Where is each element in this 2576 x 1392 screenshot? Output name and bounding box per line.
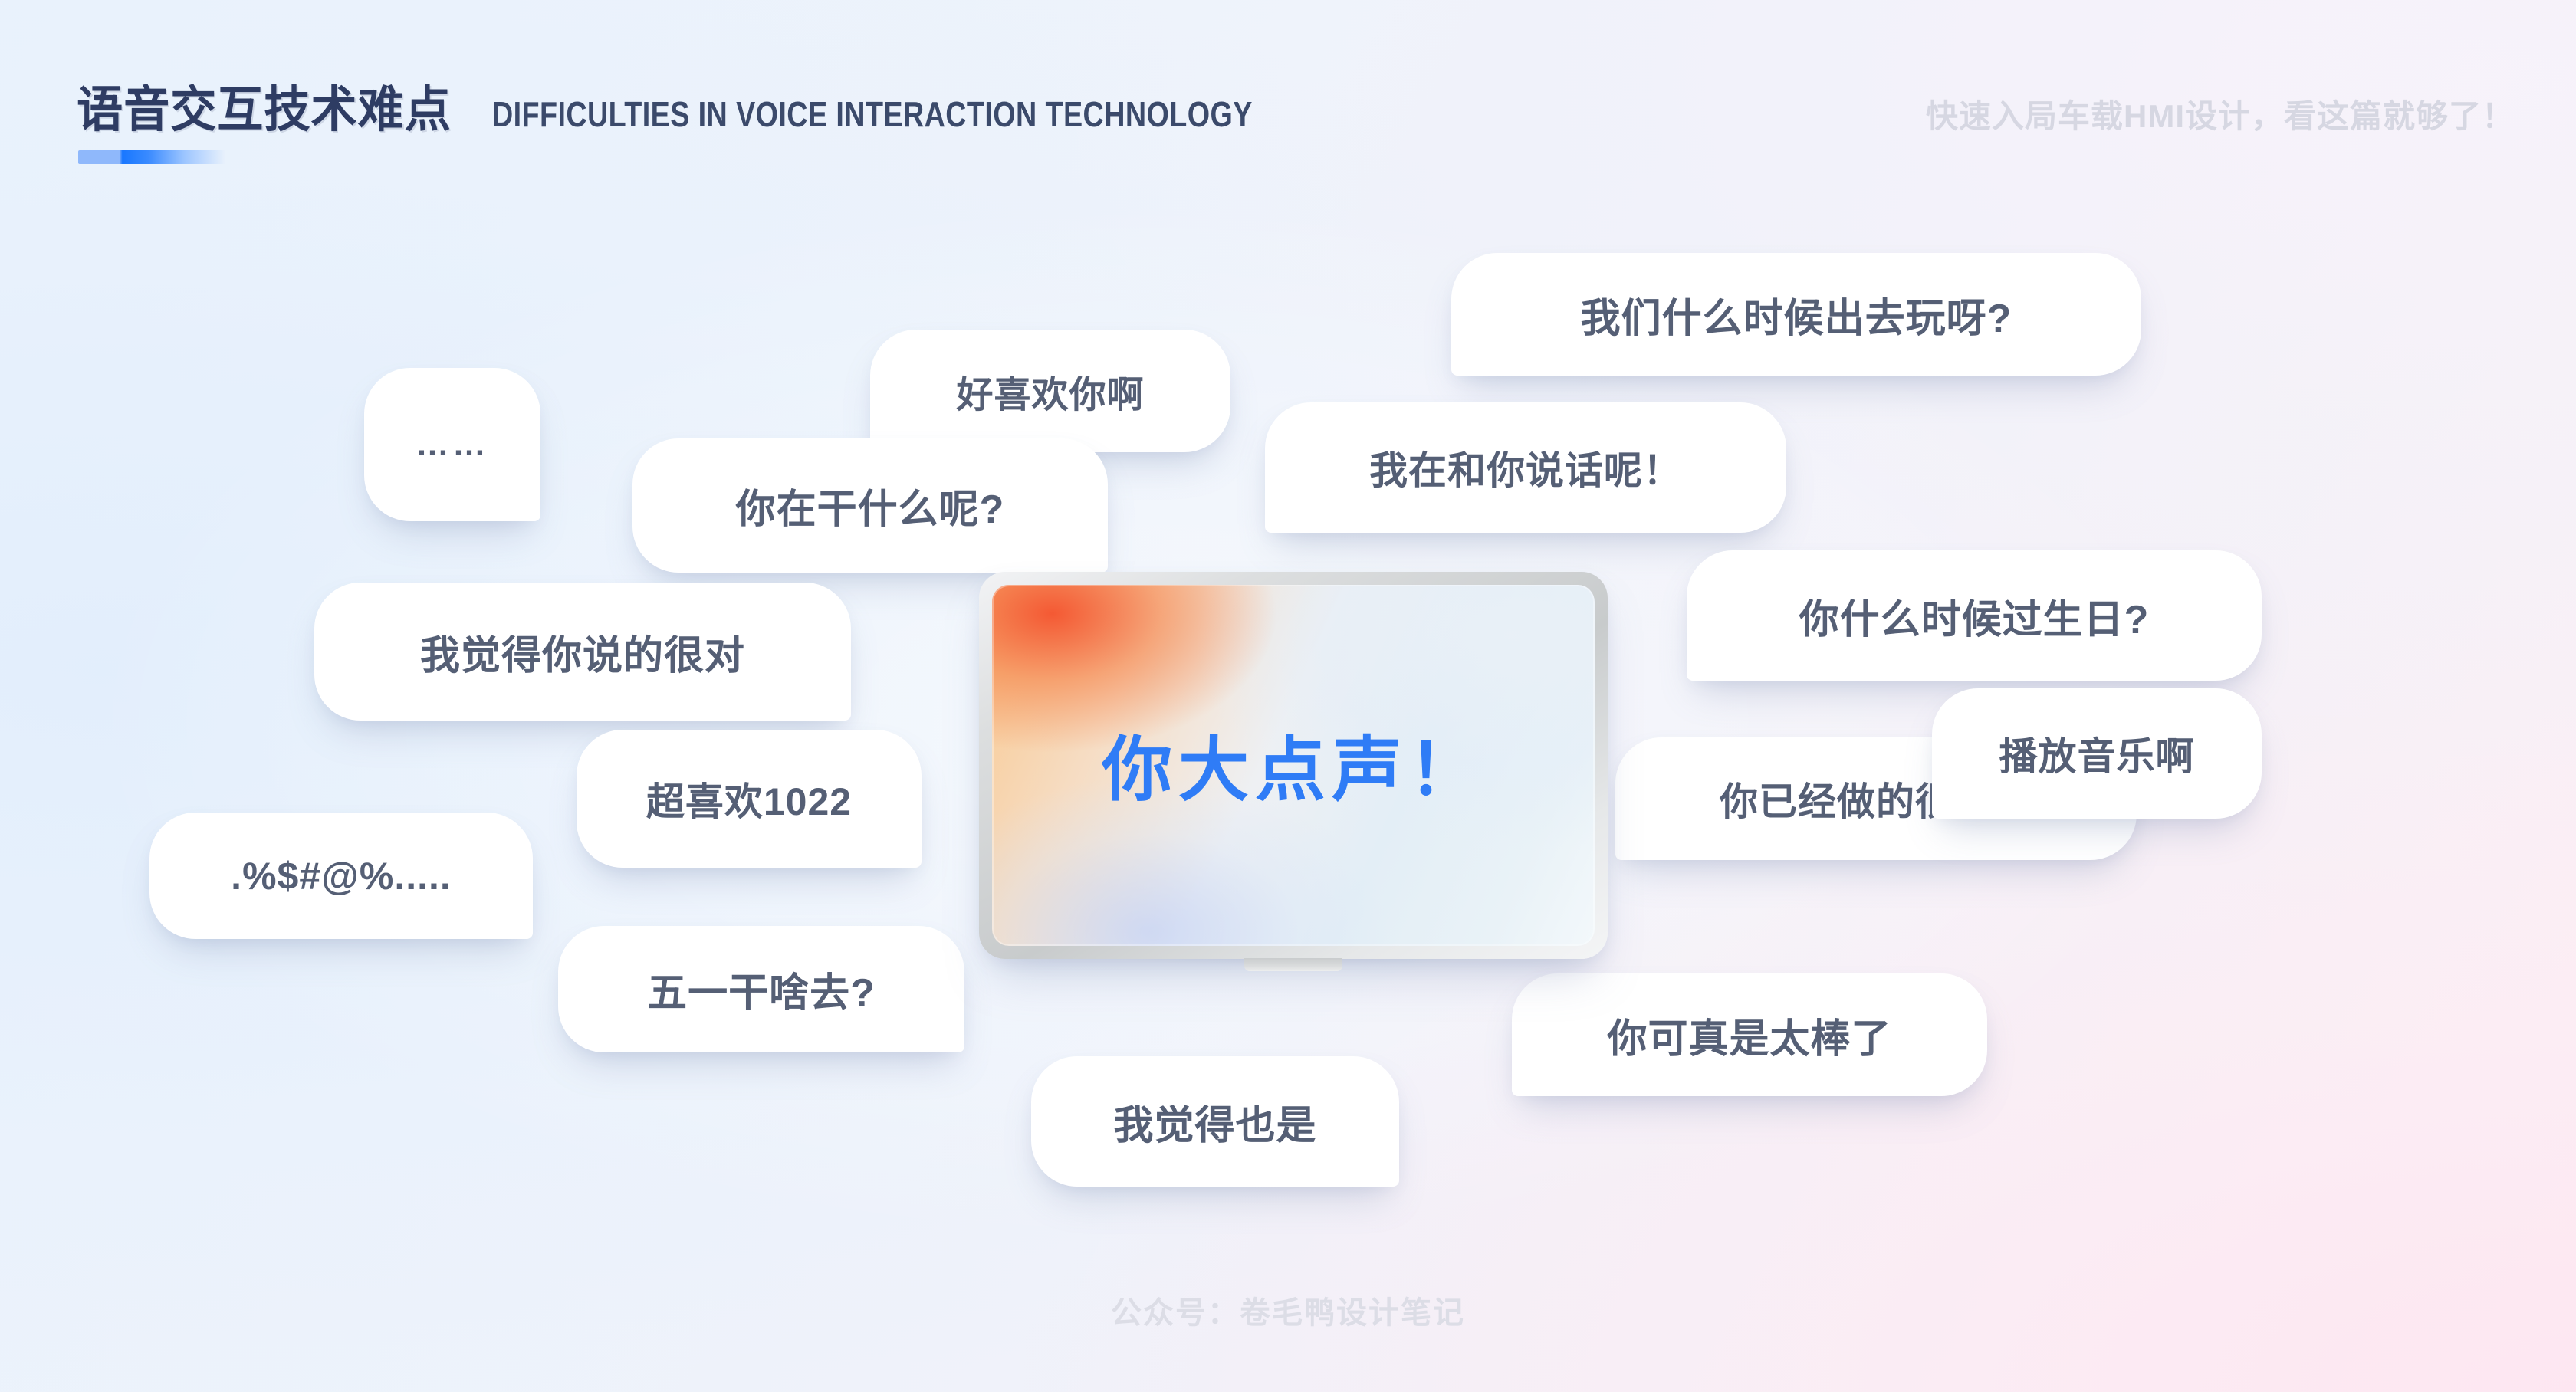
page-title-cn: 语音交互技术难点 [77,71,452,141]
speech-bubble: 好喜欢你啊 [870,330,1230,452]
speech-bubble: 我们什么时候出去玩呀? [1451,253,2141,376]
speech-bubble: 五一干啥去? [558,926,964,1052]
page-title-en: DIFFICULTIES IN VOICE INTERACTION TECHNO… [492,94,1253,135]
speech-bubble: 你什么时候过生日? [1687,550,2262,681]
speech-bubble: 我在和你说话呢！ [1265,402,1786,533]
header-tagline: 快速入局车载HMI设计，看这篇就够了！ [1926,90,2515,137]
speech-bubble: …… [364,368,540,521]
tablet-screen: 你大点声！ [992,585,1595,946]
tablet-stand-foot [1244,958,1342,971]
screen-message: 你大点声！ [992,712,1595,814]
speech-bubble: 你在干什么呢? [632,438,1108,573]
speech-bubble: .%$#@%..... [149,813,533,939]
speech-bubble: 播放音乐啊 [1932,688,2262,819]
speech-bubble: 我觉得也是 [1031,1056,1399,1187]
page-header: 语音交互技术难点 DIFFICULTIES IN VOICE INTERACTI… [77,71,2515,163]
speech-bubble: 你可真是太棒了 [1512,973,1987,1096]
speech-bubble: 超喜欢1022 [577,730,922,868]
speech-bubble: 我觉得你说的很对 [314,583,851,721]
footer-credit: 公众号：卷毛鸭设计笔记 [0,1288,2576,1332]
tablet-device: 你大点声！ [979,572,1608,959]
title-accent-bar [78,150,225,164]
